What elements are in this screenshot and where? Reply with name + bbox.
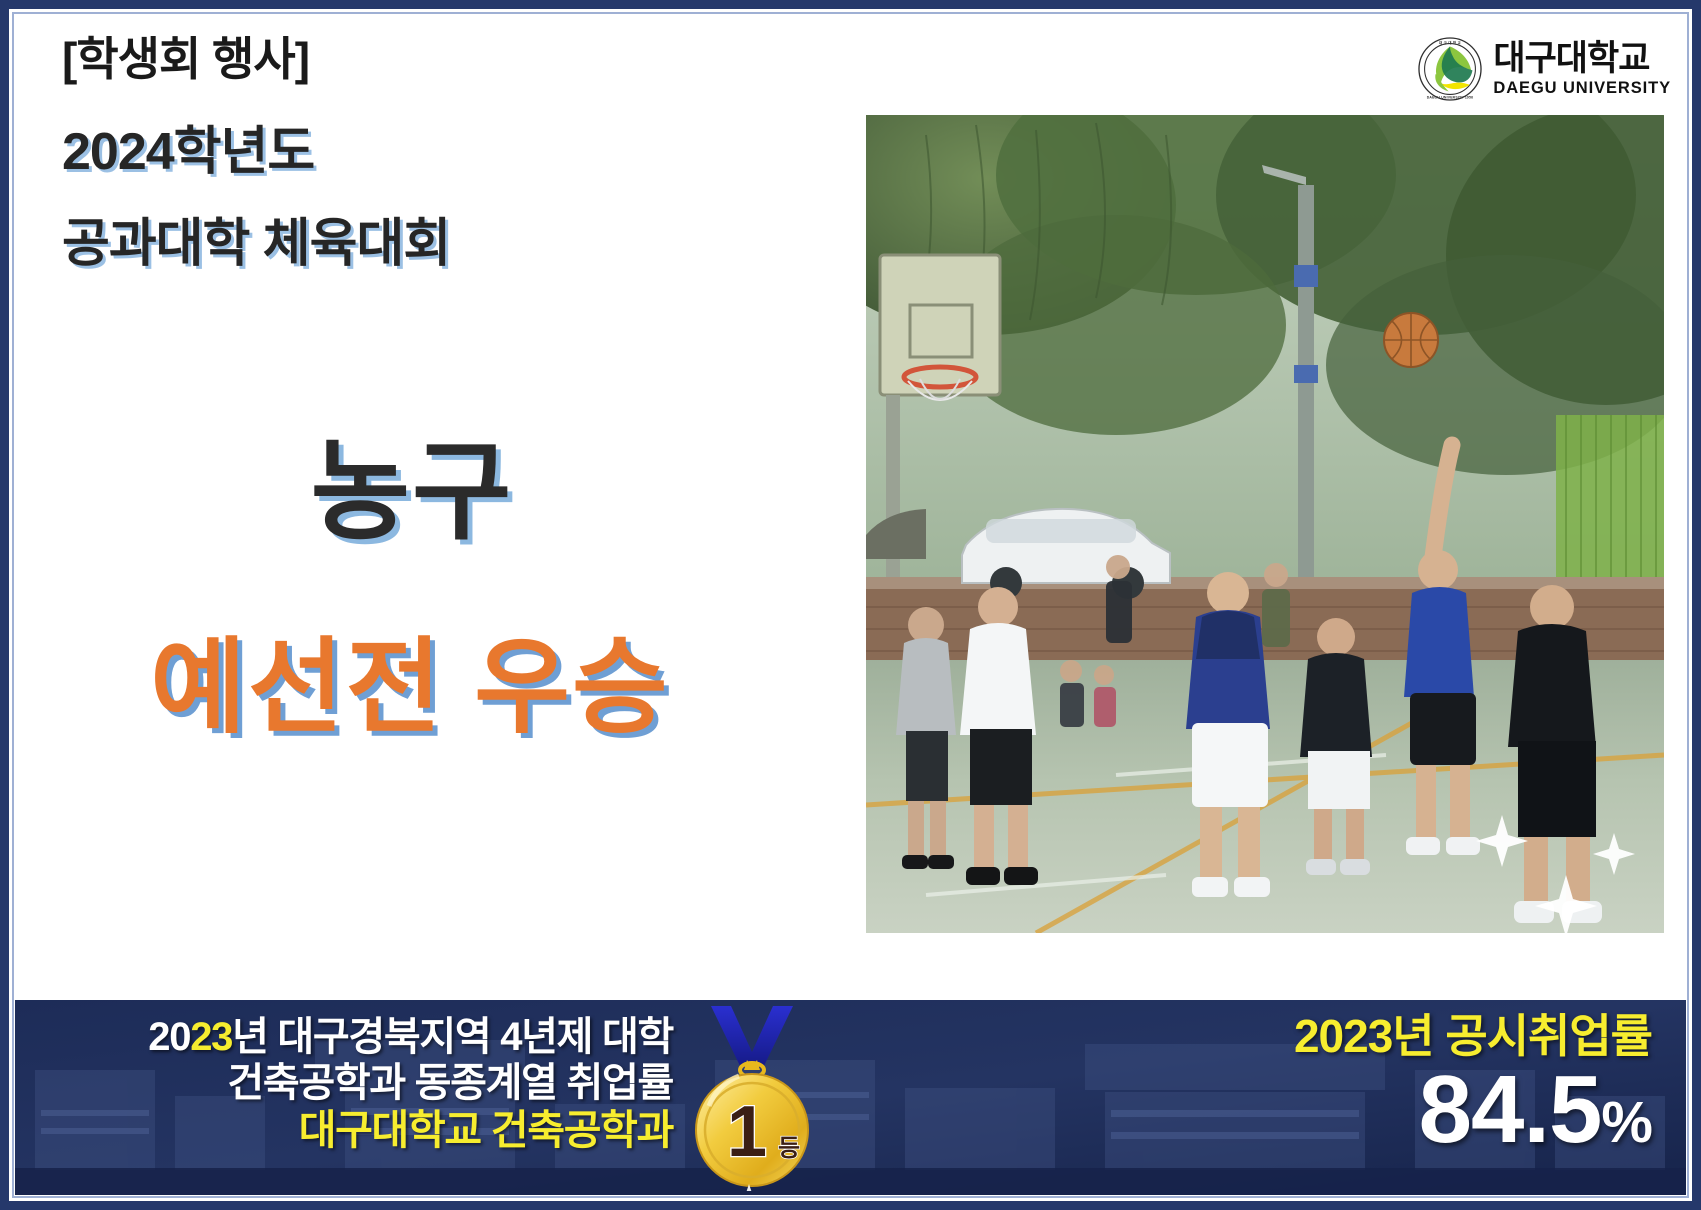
ranking-year-highlight: 23 — [190, 1015, 232, 1059]
event-name-title: 공과대학 체육대회 — [62, 205, 822, 283]
regional-ranking-text: 2023년 대구경북지역 4년제 대학 건축공학과 동종계열 취업률 대구대학교… — [63, 1014, 673, 1154]
result-heading: 예선전 우승 — [40, 636, 780, 740]
poster-root: [학생회 행사] 2024학년도 공과대학 체육대회 농구 예선전 우승 대 구… — [0, 0, 1701, 1210]
university-logo: 대 구 대 학 교 DAEGU UNIVERSITY 1956 대구대학교 DA… — [1417, 36, 1671, 102]
ranking-line-3: 대구대학교 건축공학과 — [63, 1107, 673, 1155]
svg-text:DAEGU UNIVERSITY 1956: DAEGU UNIVERSITY 1956 — [1427, 96, 1474, 100]
svg-text:1: 1 — [727, 1092, 767, 1172]
employment-rate-value-wrap: 84.5% — [1294, 1062, 1652, 1158]
ranking-year-prefix: 20 — [148, 1015, 190, 1059]
daegu-university-emblem-icon: 대 구 대 학 교 DAEGU UNIVERSITY 1956 — [1417, 36, 1483, 102]
basketball-game-photo — [866, 115, 1664, 933]
employment-rate-block: 2023년 공시취업률 84.5% — [1294, 1012, 1652, 1158]
ranking-line-1: 2023년 대구경북지역 4년제 대학 — [63, 1014, 673, 1060]
employment-stats-banner: 2023년 대구경북지역 4년제 대학 건축공학과 동종계열 취업률 대구대학교… — [15, 1000, 1686, 1195]
sport-name-heading: 농구 — [62, 438, 762, 546]
university-logo-text: 대구대학교 DAEGU UNIVERSITY — [1493, 41, 1671, 97]
employment-rate-unit: % — [1601, 1090, 1652, 1155]
employment-rate-number: 84.5 — [1419, 1056, 1602, 1163]
svg-text:등: 등 — [778, 1135, 800, 1162]
ranking-line-1-suffix: 년 대구경북지역 4년제 대학 — [232, 1015, 673, 1059]
university-name-ko: 대구대학교 — [1493, 41, 1671, 76]
academic-year-title: 2024학년도 — [62, 113, 822, 191]
headline-block: [학생회 행사] 2024학년도 공과대학 체육대회 — [62, 34, 822, 283]
university-name-en: DAEGU UNIVERSITY — [1493, 80, 1671, 97]
ranking-line-2: 건축공학과 동종계열 취업률 — [63, 1060, 673, 1106]
gold-medal-icon: 1 등 — [687, 1006, 817, 1191]
event-category-label: [학생회 행사] — [62, 34, 822, 85]
svg-text:대 구 대 학 교: 대 구 대 학 교 — [1439, 40, 1462, 45]
employment-rate-title: 2023년 공시취업률 — [1294, 1012, 1652, 1060]
